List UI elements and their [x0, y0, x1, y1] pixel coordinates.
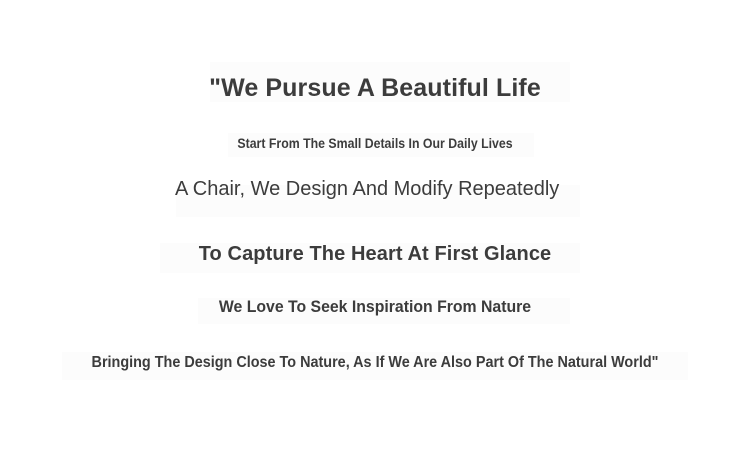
quote-page: "We Pursue A Beautiful Life Start From T…: [0, 0, 750, 457]
quote-line-chair: A Chair, We Design And Modify Repeatedly: [175, 177, 595, 202]
quote-line-inspiration: We Love To Seek Inspiration From Nature: [26, 297, 724, 317]
quote-line-capture: To Capture The Heart At First Glance: [0, 243, 750, 266]
quote-title: "We Pursue A Beautiful Life: [0, 74, 750, 103]
quote-subtitle: Start From The Small Details In Our Dail…: [45, 135, 705, 151]
quote-line-closing: Bringing The Design Close To Nature, As …: [38, 354, 713, 372]
